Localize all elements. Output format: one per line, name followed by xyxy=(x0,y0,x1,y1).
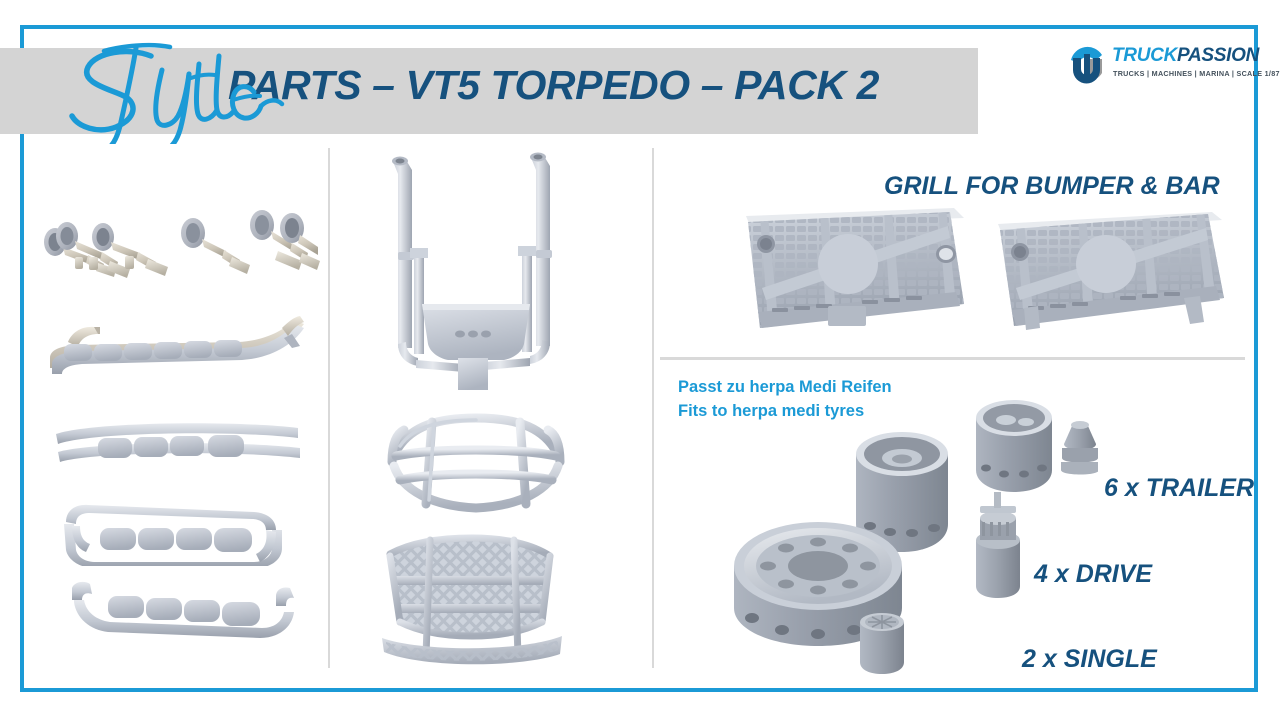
truckpassion-swoosh-icon xyxy=(1068,46,1106,84)
column-divider-right xyxy=(652,148,654,668)
quantity-label-trailer: 6 x TRAILER xyxy=(1104,474,1254,503)
page-title: PARTS – VT5 TORPEDO – PACK 2 xyxy=(228,62,879,109)
part-double-tube-bumper-bar xyxy=(52,418,308,480)
grill-section-heading: GRILL FOR BUMPER & BAR xyxy=(884,172,1220,201)
brand-logo[interactable]: TRUCKPASSION TRUCKS | MACHINES | MARINA … xyxy=(1068,44,1248,90)
brand-tagline: TRUCKS | MACHINES | MARINA | SCALE 1/87 xyxy=(1113,69,1280,78)
part-wrap-around-bumper-bar xyxy=(58,500,302,566)
section-divider-horizontal xyxy=(660,357,1245,360)
brand-word-passion: PASSION xyxy=(1177,45,1259,66)
part-low-bumper-bar xyxy=(62,578,306,640)
quantity-label-single: 2 x SINGLE xyxy=(1022,645,1157,674)
brand-word-truck: TRUCK xyxy=(1112,45,1177,66)
brand-wordmark: TRUCKPASSION xyxy=(1112,45,1259,67)
part-mesh-bug-screen xyxy=(372,530,572,670)
part-bumper-grill-panel-right xyxy=(994,212,1230,338)
wheel-parts-group xyxy=(718,396,1098,680)
part-bull-bar-with-lamps xyxy=(42,312,324,394)
slide-canvas: PARTS – VT5 TORPEDO – PACK 2 TRUCKPASSIO… xyxy=(0,0,1280,720)
part-bumper-grill-panel-left xyxy=(742,208,970,342)
part-tube-grille-guard xyxy=(382,410,570,522)
quantity-label-drive: 4 x DRIVE xyxy=(1034,560,1152,589)
part-exhaust-stacks-with-deflector xyxy=(372,148,580,390)
column-divider-left xyxy=(328,148,330,668)
part-air-horn-set xyxy=(30,195,322,310)
